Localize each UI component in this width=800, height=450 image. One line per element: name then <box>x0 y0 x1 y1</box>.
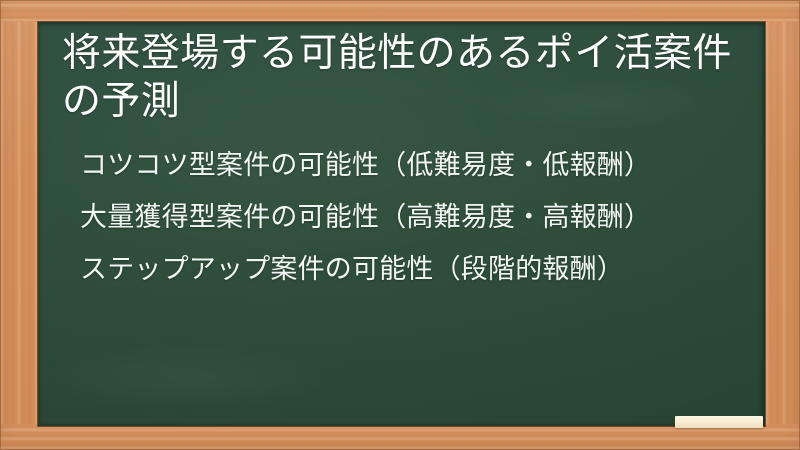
list-item: 大量獲得型案件の可能性（高難易度・高報酬） <box>80 204 741 231</box>
chalk-stick-icon <box>675 416 763 428</box>
chalkboard-surface: 将来登場する可能性のあるポイ活案件の予測 コツコツ型案件の可能性（低難易度・低報… <box>38 22 765 426</box>
chalkboard-slide: 将来登場する可能性のあるポイ活案件の予測 コツコツ型案件の可能性（低難易度・低報… <box>0 0 800 450</box>
chalkboard-content: 将来登場する可能性のあるポイ活案件の予測 コツコツ型案件の可能性（低難易度・低報… <box>38 22 765 283</box>
bullet-list: コツコツ型案件の可能性（低難易度・低報酬） 大量獲得型案件の可能性（高難易度・高… <box>62 152 741 283</box>
frame-top-rail <box>0 0 800 22</box>
slide-title: 将来登場する可能性のあるポイ活案件の予測 <box>62 30 741 125</box>
list-item: コツコツ型案件の可能性（低難易度・低報酬） <box>80 152 741 179</box>
list-item: ステップアップ案件の可能性（段階的報酬） <box>80 256 741 283</box>
